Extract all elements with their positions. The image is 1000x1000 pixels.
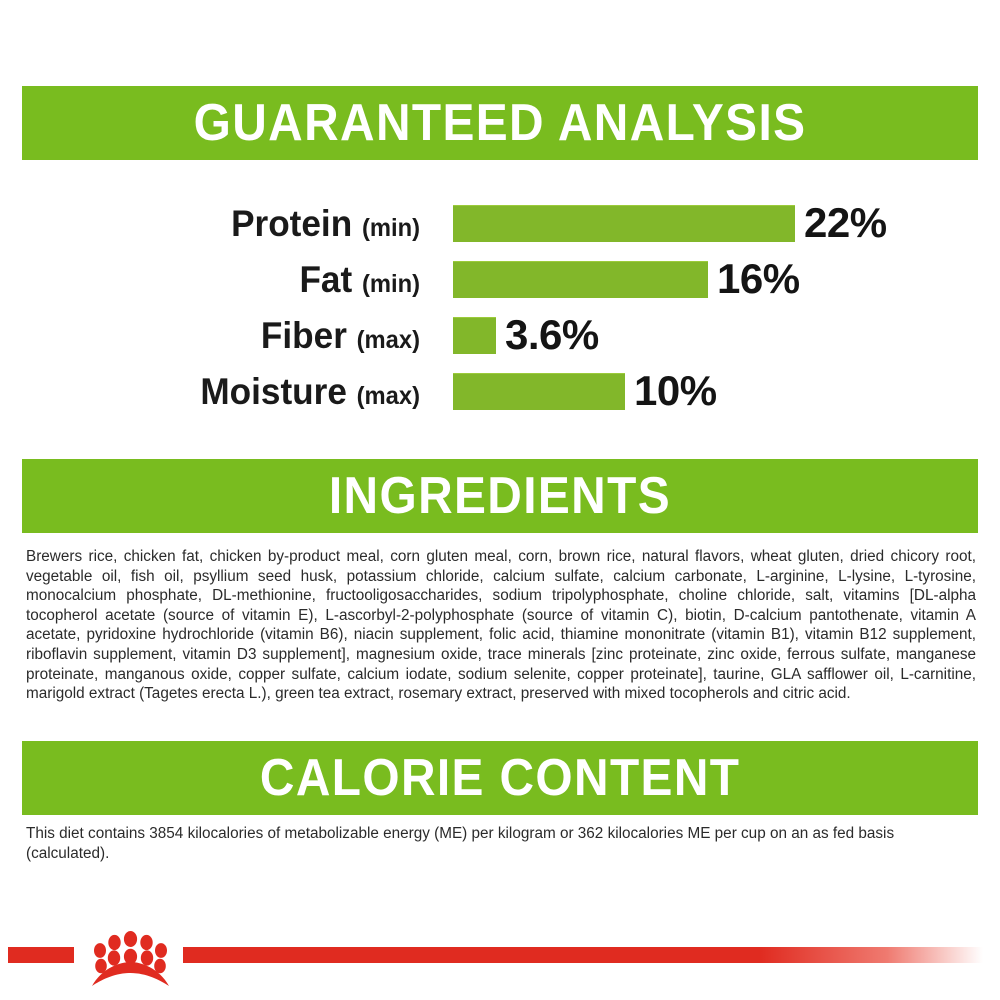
chart-bar-fat [453, 261, 708, 298]
chart-value-fat: 16% [717, 258, 800, 300]
brand-band-right-segment [183, 947, 983, 963]
brand-band-left-segment [8, 947, 74, 963]
chart-bar-moisture [453, 373, 625, 410]
chart-bar-protein [453, 205, 795, 242]
guaranteed-analysis-banner: GUARANTEED ANALYSIS [22, 86, 978, 160]
chart-label-moisture-qualifier: (max) [357, 382, 420, 410]
chart-value-moisture: 10% [634, 370, 717, 412]
guaranteed-analysis-title: GUARANTEED ANALYSIS [194, 97, 807, 149]
calorie-content-title: CALORIE CONTENT [260, 752, 740, 804]
royal-canin-crown-icon [74, 928, 186, 990]
chart-value-protein: 22% [804, 202, 887, 244]
chart-row-fat: Fat (min) 16% [0, 252, 1000, 306]
chart-label-fiber: Fiber (max) [21, 317, 420, 354]
chart-row-protein: Protein (min) 22% [0, 196, 1000, 250]
chart-row-fiber: Fiber (max) 3.6% [0, 308, 1000, 362]
brand-footer-band [0, 928, 1000, 1000]
chart-label-fiber-qualifier: (max) [357, 326, 420, 354]
chart-label-moisture-name: Moisture [200, 371, 346, 412]
ingredients-banner: INGREDIENTS [22, 459, 978, 533]
chart-bar-wrap-protein: 22% [453, 205, 887, 241]
calorie-content-text: This diet contains 3854 kilocalories of … [26, 824, 976, 863]
nutrition-panel: GUARANTEED ANALYSIS Protein (min) 22% Fa… [0, 0, 1000, 1000]
chart-bar-wrap-fat: 16% [453, 261, 800, 297]
chart-row-moisture: Moisture (max) 10% [0, 364, 1000, 418]
calorie-content-banner: CALORIE CONTENT [22, 741, 978, 815]
ingredients-title: INGREDIENTS [329, 470, 671, 522]
chart-bar-wrap-moisture: 10% [453, 373, 717, 409]
chart-label-protein-qualifier: (min) [362, 214, 420, 242]
chart-bar-fiber [453, 317, 496, 354]
chart-label-protein-name: Protein [231, 203, 352, 244]
chart-label-protein: Protein (min) [21, 205, 420, 242]
chart-label-moisture: Moisture (max) [21, 373, 420, 410]
ingredients-text: Brewers rice, chicken fat, chicken by-pr… [26, 547, 976, 704]
chart-label-fat-qualifier: (min) [362, 270, 420, 298]
chart-label-fat-name: Fat [299, 259, 352, 300]
chart-label-fat: Fat (min) [21, 261, 420, 298]
guaranteed-analysis-chart: Protein (min) 22% Fat (min) 16% Fiber (m… [0, 196, 1000, 426]
chart-value-fiber: 3.6% [505, 314, 599, 356]
chart-label-fiber-name: Fiber [261, 315, 347, 356]
chart-bar-wrap-fiber: 3.6% [453, 317, 599, 353]
